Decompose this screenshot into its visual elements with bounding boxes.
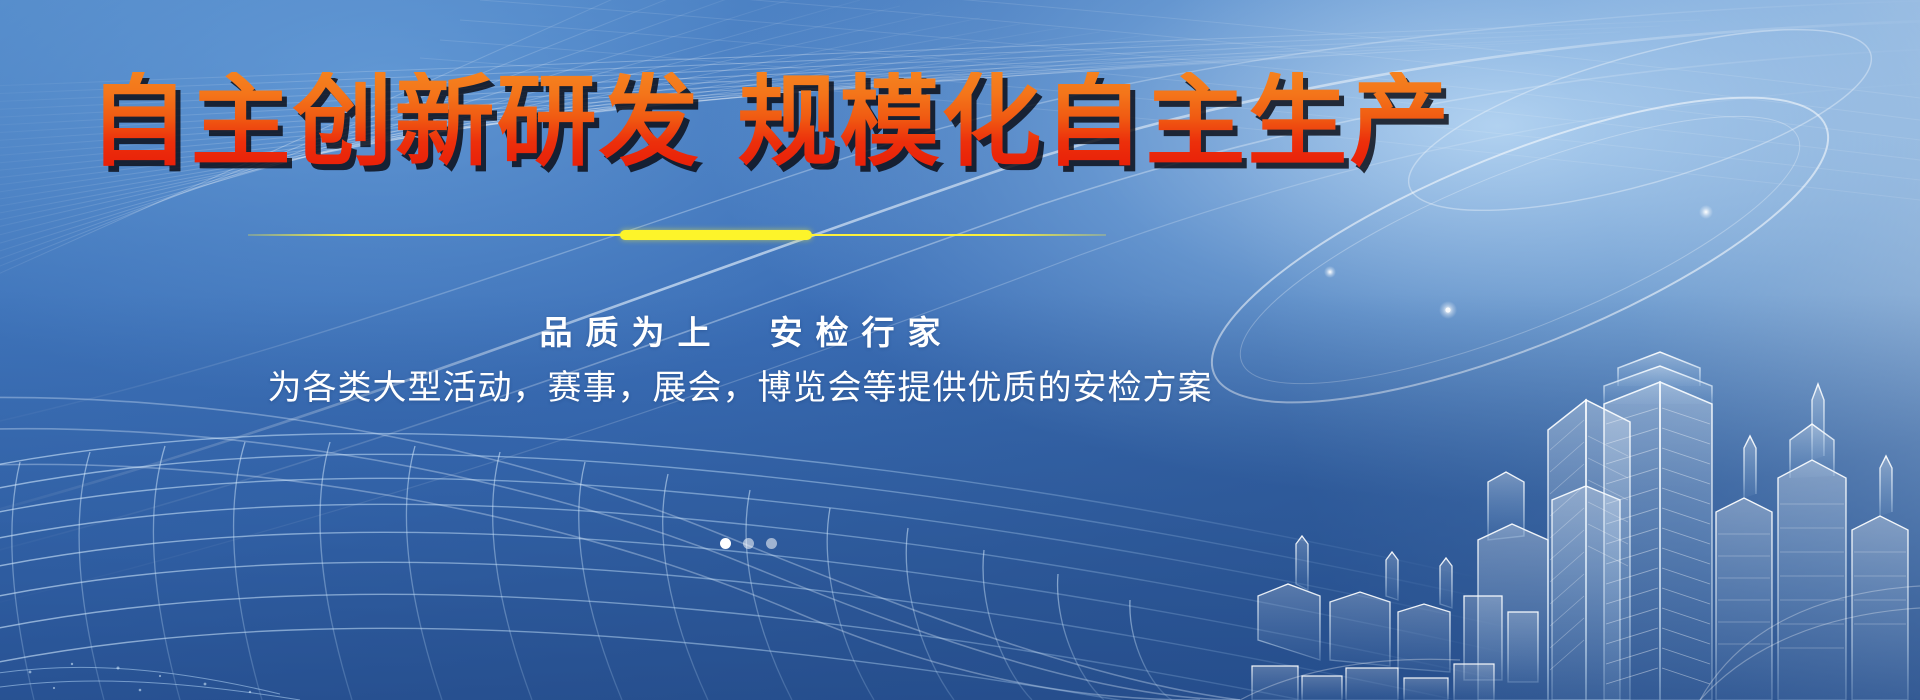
title-divider <box>248 228 1106 242</box>
divider-accent-bar <box>620 230 812 240</box>
banner-subtitle: 品质为上 安检行家 <box>0 306 1480 354</box>
hero-banner: 自主创新研发 规模化自主生产 品质为上 安检行家 为各类大型活动，赛事，展会，博… <box>0 0 1920 700</box>
banner-description: 为各类大型活动，赛事，展会，博览会等提供优质的安检方案 <box>0 360 1480 409</box>
banner-title: 自主创新研发 规模化自主生产 <box>0 72 1540 172</box>
carousel-dot-1[interactable] <box>720 538 731 549</box>
carousel-dot-3[interactable] <box>766 538 777 549</box>
carousel-dots[interactable] <box>0 538 1497 549</box>
carousel-dot-2[interactable] <box>743 538 754 549</box>
